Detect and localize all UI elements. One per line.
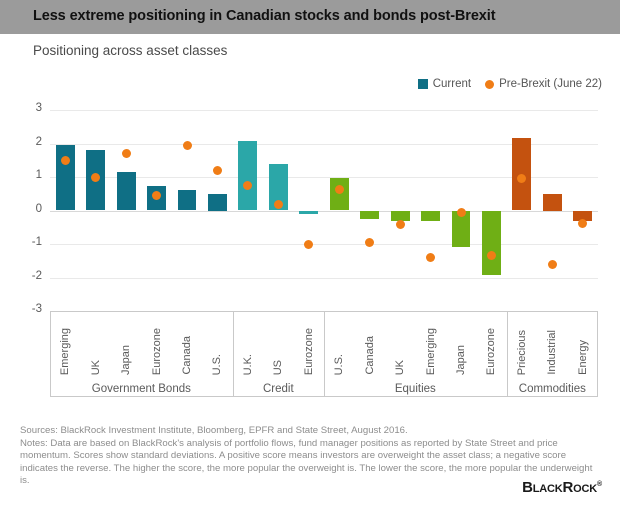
- dot-pre-brexit[interactable]: [122, 149, 131, 158]
- dot-pre-brexit[interactable]: [365, 238, 374, 247]
- group-separator: [597, 311, 598, 397]
- bar-current[interactable]: [208, 194, 227, 211]
- gridline: [50, 244, 598, 245]
- footnote-notes: Notes: Data are based on BlackRock's ana…: [20, 438, 602, 488]
- category-label: Priecious: [516, 330, 528, 375]
- bar-current[interactable]: [117, 172, 136, 211]
- category-label: Industrial: [546, 330, 558, 375]
- dot-pre-brexit[interactable]: [274, 200, 283, 209]
- bar-current[interactable]: [178, 190, 197, 210]
- blackrock-logo: BLACKROCK®: [522, 479, 602, 496]
- bar-current[interactable]: [360, 211, 379, 220]
- bar-current[interactable]: [421, 211, 440, 222]
- bar-current[interactable]: [299, 211, 318, 214]
- category-label: Eurozone: [151, 328, 163, 375]
- category-label: Emerging: [425, 328, 437, 375]
- bar-current[interactable]: [56, 145, 75, 210]
- footnote-sources: Sources: BlackRock Investment Institute,…: [20, 425, 602, 438]
- bar-current[interactable]: [482, 211, 501, 275]
- group-separator: [507, 311, 508, 397]
- chart-page: Less extreme positioning in Canadian sto…: [0, 0, 620, 508]
- dot-pre-brexit[interactable]: [91, 173, 100, 182]
- legend-dot-icon: [485, 80, 494, 89]
- legend-label-pre-brexit: Pre-Brexit (June 22): [499, 78, 602, 90]
- zero-line: [50, 211, 598, 212]
- dot-pre-brexit[interactable]: [548, 260, 557, 269]
- page-title: Less extreme positioning in Canadian sto…: [33, 8, 495, 24]
- category-label: U.K.: [242, 354, 254, 375]
- group-label: Credit: [233, 383, 324, 395]
- y-axis-tick-label: 1: [2, 169, 42, 181]
- dot-pre-brexit[interactable]: [335, 185, 344, 194]
- dot-pre-brexit[interactable]: [578, 219, 587, 228]
- dot-pre-brexit[interactable]: [152, 191, 161, 200]
- y-axis-tick-label: 2: [2, 136, 42, 148]
- group-label: Commodities: [507, 383, 598, 395]
- chart-subtitle: Positioning across asset classes: [33, 43, 227, 58]
- group-label: Equities: [324, 383, 507, 395]
- gridline: [50, 278, 598, 279]
- y-axis-tick-label: 3: [2, 102, 42, 114]
- category-label: Eurozone: [485, 328, 497, 375]
- legend-item-current[interactable]: Current: [418, 78, 471, 90]
- bar-current[interactable]: [543, 194, 562, 211]
- legend-square-icon: [418, 79, 428, 89]
- dot-pre-brexit[interactable]: [396, 220, 405, 229]
- y-axis-tick-label: 0: [2, 203, 42, 215]
- y-axis-tick-label: -3: [2, 303, 42, 315]
- bar-current[interactable]: [238, 141, 257, 210]
- category-label: UK: [394, 360, 406, 375]
- group-label: Government Bonds: [50, 383, 233, 395]
- group-separator: [324, 311, 325, 397]
- category-label: U.S.: [333, 354, 345, 375]
- category-label: Emerging: [59, 328, 71, 375]
- legend-label-current: Current: [433, 78, 471, 90]
- legend-item-pre-brexit[interactable]: Pre-Brexit (June 22): [485, 78, 602, 90]
- dot-pre-brexit[interactable]: [304, 240, 313, 249]
- bar-current[interactable]: [391, 211, 410, 221]
- group-separator: [233, 311, 234, 397]
- chart-legend: Current Pre-Brexit (June 22): [418, 78, 602, 90]
- category-label: Eurozone: [303, 328, 315, 375]
- category-label: U.S.: [211, 354, 223, 375]
- category-label: Canada: [181, 336, 193, 375]
- category-label: US: [272, 360, 284, 375]
- dot-pre-brexit[interactable]: [426, 253, 435, 262]
- y-axis-tick-label: -1: [2, 236, 42, 248]
- y-axis-tick-label: -2: [2, 270, 42, 282]
- dot-pre-brexit[interactable]: [183, 141, 192, 150]
- dot-pre-brexit[interactable]: [457, 208, 466, 217]
- category-label: Canada: [364, 336, 376, 375]
- footnotes: Sources: BlackRock Investment Institute,…: [20, 425, 602, 488]
- dot-pre-brexit[interactable]: [213, 166, 222, 175]
- category-label: Japan: [455, 345, 467, 375]
- category-label: Energy: [577, 340, 589, 375]
- category-label: Japan: [120, 345, 132, 375]
- gridline: [50, 110, 598, 111]
- category-label: UK: [90, 360, 102, 375]
- group-separator: [50, 311, 51, 397]
- bar-current[interactable]: [330, 178, 349, 210]
- category-axis: EmergingUKJapanEurozoneCanadaU.S.Governm…: [50, 311, 598, 397]
- plot-area: 3210-1-2-3: [50, 110, 598, 311]
